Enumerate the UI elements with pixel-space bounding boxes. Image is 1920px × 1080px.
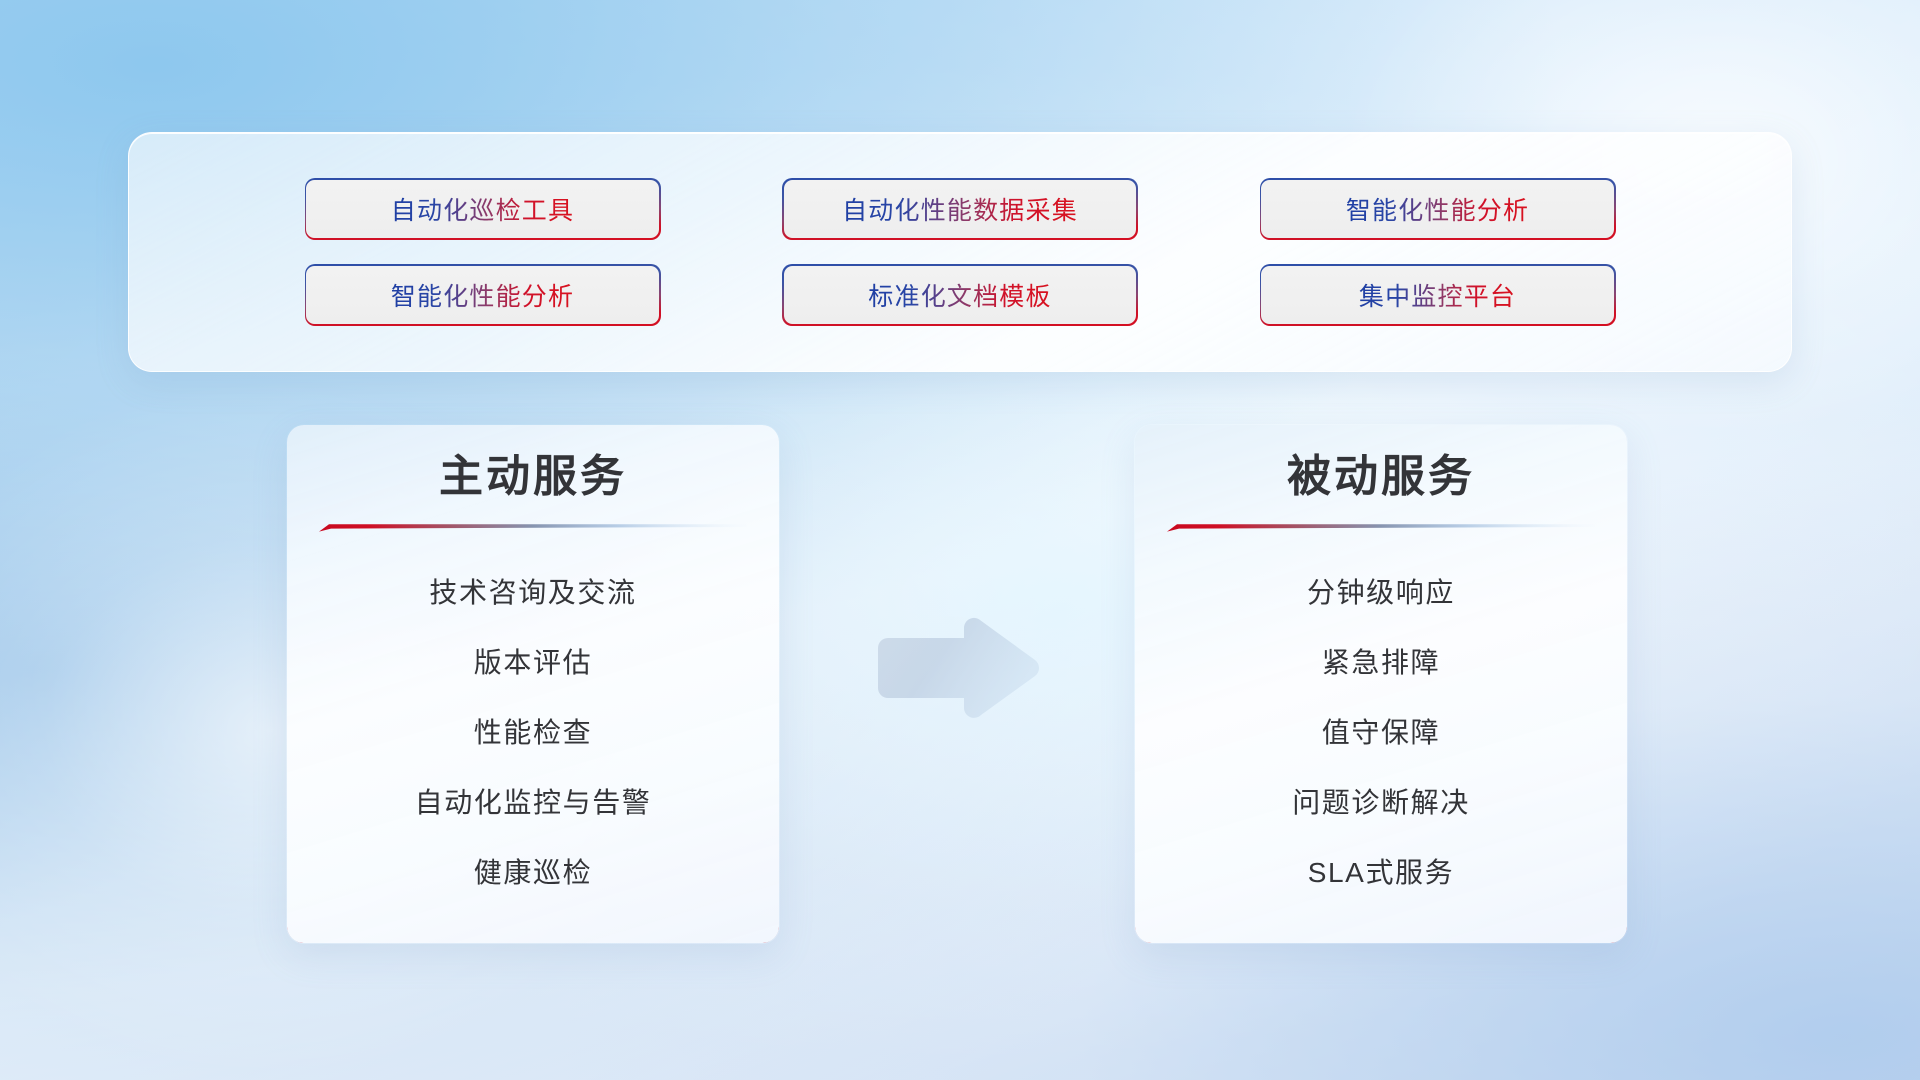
capability-tag-label: 智能化性能分析 [391, 277, 574, 313]
service-card-reactive: 被动服务 [1134, 424, 1628, 944]
capability-column-2: 自动化性能数据采集 标准化文档模板 [782, 178, 1138, 326]
service-item: 问题诊断解决 [1292, 768, 1470, 838]
capability-tag-label: 自动化性能数据采集 [842, 191, 1078, 227]
service-item: 紧急排障 [1322, 628, 1440, 698]
capability-tag-surface: 智能化性能分析 [1261, 180, 1614, 239]
service-card-body: 被动服务 [1135, 425, 1627, 943]
flow-arrow-right-icon [872, 612, 1044, 724]
service-item-list: 技术咨询及交流 版本评估 性能检查 自动化监控与告警 健康巡检 [287, 558, 779, 908]
capability-tag-surface: 智能化性能分析 [306, 266, 659, 325]
service-item: 健康巡检 [474, 838, 592, 908]
service-item-list: 分钟级响应 紧急排障 值守保障 问题诊断解决 SLA式服务 [1135, 558, 1627, 908]
capability-tag[interactable]: 自动化巡检工具 [305, 178, 661, 240]
service-item: 自动化监控与告警 [415, 768, 652, 838]
capability-tag-label: 集中监控平台 [1359, 277, 1516, 313]
service-card-body: 主动服务 [287, 425, 779, 943]
capability-tag[interactable]: 智能化性能分析 [1260, 178, 1616, 240]
capability-column-1: 自动化巡检工具 智能化性能分析 [305, 178, 661, 326]
capability-tag-surface: 标准化文档模板 [784, 266, 1137, 325]
capability-tag[interactable]: 智能化性能分析 [305, 264, 661, 326]
capability-panel: 自动化巡检工具 智能化性能分析 自动化性能数据采集 标准化文档模板 [128, 132, 1792, 372]
capability-tag[interactable]: 自动化性能数据采集 [782, 178, 1138, 240]
service-card-title: 主动服务 [439, 451, 627, 503]
service-item: 性能检查 [474, 698, 592, 768]
service-item: 版本评估 [474, 628, 592, 698]
title-divider-rule [319, 523, 747, 532]
capability-tag-surface: 集中监控平台 [1261, 266, 1614, 325]
service-item: 技术咨询及交流 [429, 558, 636, 628]
capability-tag-surface: 自动化性能数据采集 [784, 180, 1137, 239]
service-card-title: 被动服务 [1287, 451, 1475, 503]
infographic-stage: 自动化巡检工具 智能化性能分析 自动化性能数据采集 标准化文档模板 [0, 0, 1920, 1080]
capability-column-3: 智能化性能分析 集中监控平台 [1260, 178, 1616, 326]
service-item: 值守保障 [1322, 698, 1440, 768]
service-card-proactive: 主动服务 [286, 424, 780, 944]
capability-tag-label: 智能化性能分析 [1346, 191, 1529, 227]
capability-tag[interactable]: 集中监控平台 [1260, 264, 1616, 326]
capability-tag-surface: 自动化巡检工具 [306, 180, 659, 239]
capability-tag-label: 标准化文档模板 [868, 277, 1051, 313]
capability-tag[interactable]: 标准化文档模板 [782, 264, 1138, 326]
capability-tag-label: 自动化巡检工具 [391, 191, 574, 227]
service-item: SLA式服务 [1308, 838, 1455, 908]
title-divider-rule [1167, 523, 1595, 532]
service-item: 分钟级响应 [1307, 558, 1455, 628]
